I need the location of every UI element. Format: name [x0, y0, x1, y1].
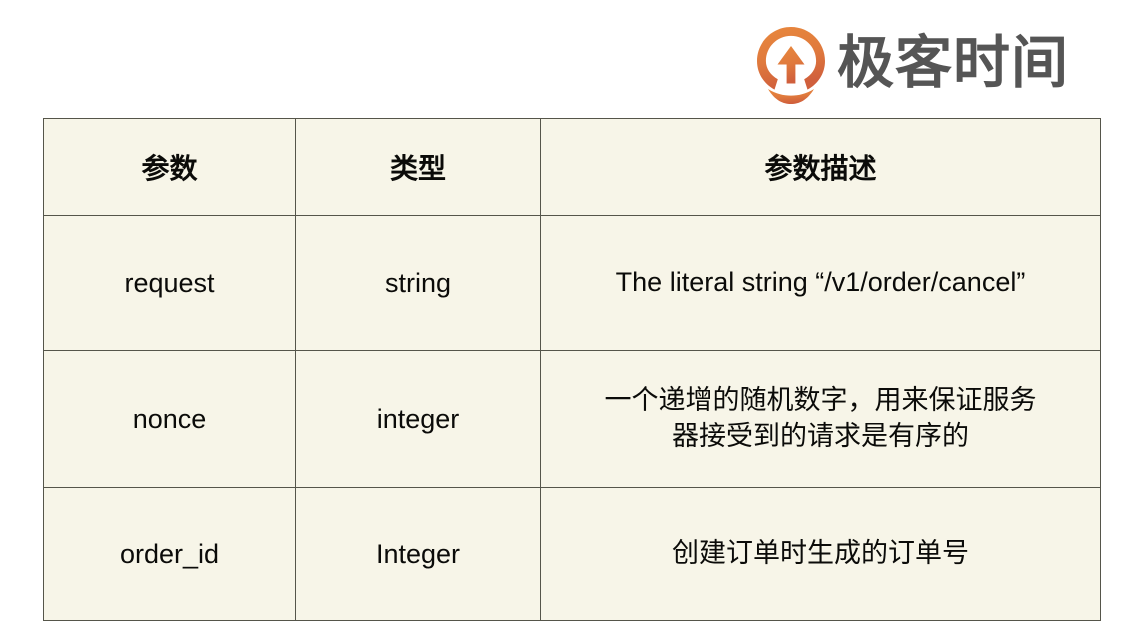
cell-param-name: request [44, 216, 296, 351]
brand-name: 极客时间 [837, 35, 1069, 96]
cell-param-description-text: 一个递增的随机数字，用来保证服务器接受到的请求是有序的 [595, 383, 1047, 454]
page-root: 极客时间 参数 类型 参数描述 request string The liter… [0, 0, 1132, 614]
table-header: 参数 类型 参数描述 [44, 119, 1101, 216]
cell-param-description: 一个递增的随机数字，用来保证服务器接受到的请求是有序的 [541, 351, 1101, 488]
table-row: nonce integer 一个递增的随机数字，用来保证服务器接受到的请求是有序… [44, 351, 1101, 488]
cell-param-name: nonce [44, 351, 296, 488]
cell-param-description: The literal string “/v1/order/cancel” [541, 216, 1101, 351]
cell-param-type: Integer [296, 488, 541, 621]
table-row: order_id Integer 创建订单时生成的订单号 [44, 488, 1101, 621]
column-header-type: 类型 [296, 119, 541, 216]
cell-param-type: string [296, 216, 541, 351]
geekbang-pin-logo-icon [755, 25, 827, 105]
cell-param-description: 创建订单时生成的订单号 [541, 488, 1101, 621]
table-row: request string The literal string “/v1/o… [44, 216, 1101, 351]
parameter-table: 参数 类型 参数描述 request string The literal st… [43, 118, 1101, 621]
cell-param-type: integer [296, 351, 541, 488]
column-header-description: 参数描述 [541, 119, 1101, 216]
cell-param-name: order_id [44, 488, 296, 621]
brand-logo: 极客时间 [755, 22, 1069, 108]
table-header-row: 参数 类型 参数描述 [44, 119, 1101, 216]
column-header-param: 参数 [44, 119, 296, 216]
table-body: request string The literal string “/v1/o… [44, 216, 1101, 621]
